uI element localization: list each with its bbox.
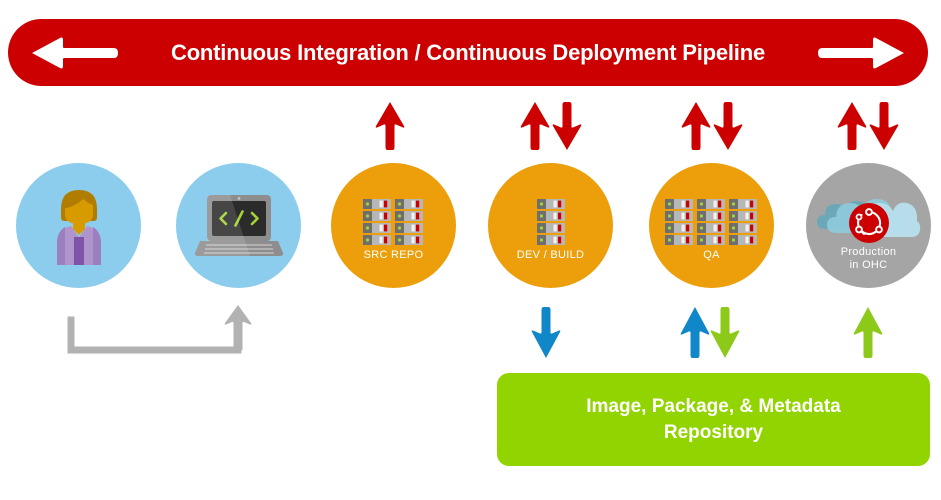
arrow-dev-build-to-repo [530, 305, 562, 360]
node-label-src-repo: SRC REPO [331, 249, 456, 262]
repository-label: Image, Package, & Metadata Repository [566, 394, 861, 446]
connector-developer-to-workstation [60, 305, 260, 360]
pipeline-banner-title: Continuous Integration / Continuous Depl… [8, 42, 928, 64]
person-icon [39, 187, 119, 265]
arrow-qa-to-repo [709, 305, 741, 360]
node-production[interactable]: Production in OHC [806, 163, 931, 288]
node-src-repo[interactable]: SRC REPO [331, 163, 456, 288]
cicd-pipeline-diagram: Continuous Integration / Continuous Depl… [0, 0, 941, 500]
arrow-production-down [868, 100, 900, 152]
server-rack-icon [536, 197, 566, 249]
server-rack-icon [360, 197, 428, 249]
server-rack-icon [662, 197, 762, 249]
repository-box[interactable]: Image, Package, & Metadata Repository [497, 373, 930, 466]
arrow-dev-build-down [551, 100, 583, 152]
repository-label-line2: Repository [586, 420, 841, 446]
node-label-production-line2: in OHC [806, 259, 931, 272]
repository-label-line1: Image, Package, & Metadata [586, 394, 841, 420]
node-label-qa: QA [649, 249, 774, 262]
banner-arrow-right-icon [816, 36, 906, 70]
arrow-qa-down [712, 100, 744, 152]
node-workstation[interactable] [176, 163, 301, 288]
arrow-repo-to-qa [679, 305, 711, 360]
node-label-production: Production in OHC [806, 246, 931, 272]
arrow-repo-to-production [852, 305, 884, 360]
arrow-production-up [836, 100, 868, 152]
node-label-dev-build: DEV / BUILD [488, 249, 613, 262]
arrow-src-repo-up [374, 100, 406, 152]
laptop-code-icon [194, 195, 284, 257]
node-qa[interactable]: QA [649, 163, 774, 288]
cloud-openshift-icon [817, 181, 921, 247]
node-developer[interactable] [16, 163, 141, 288]
pipeline-banner: Continuous Integration / Continuous Depl… [8, 19, 928, 86]
node-dev-build[interactable]: DEV / BUILD [488, 163, 613, 288]
node-label-production-line1: Production [806, 246, 931, 259]
arrow-dev-build-up [519, 100, 551, 152]
arrow-qa-up [680, 100, 712, 152]
